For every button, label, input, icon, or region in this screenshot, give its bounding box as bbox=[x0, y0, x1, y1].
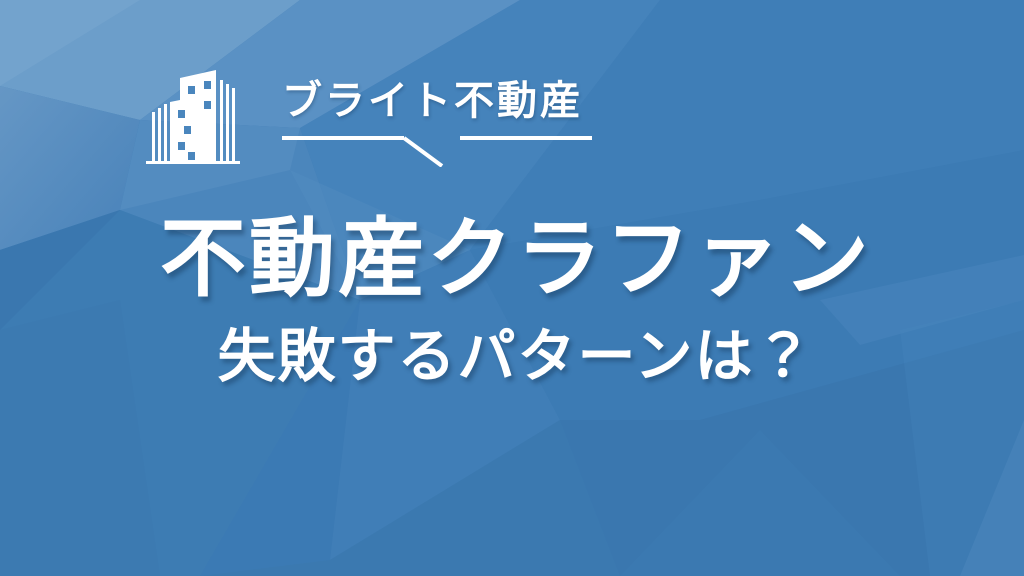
page-subtitle: 失敗するパターンは？ bbox=[8, 328, 1024, 386]
brand-name: ブライト不動産 bbox=[282, 80, 592, 123]
divider-with-notch bbox=[282, 133, 592, 167]
brand-lockup: ブライト不動産 bbox=[136, 58, 592, 170]
title-card: ブライト不動産 不動産クラファン 失敗するパターンは？ bbox=[0, 0, 1024, 576]
brand-text-block: ブライト不動産 bbox=[282, 80, 592, 167]
building-icon bbox=[136, 58, 248, 170]
page-title: 不動産クラファン bbox=[8, 216, 1024, 302]
headline-block: 不動産クラファン 失敗するパターンは？ bbox=[0, 216, 1024, 386]
